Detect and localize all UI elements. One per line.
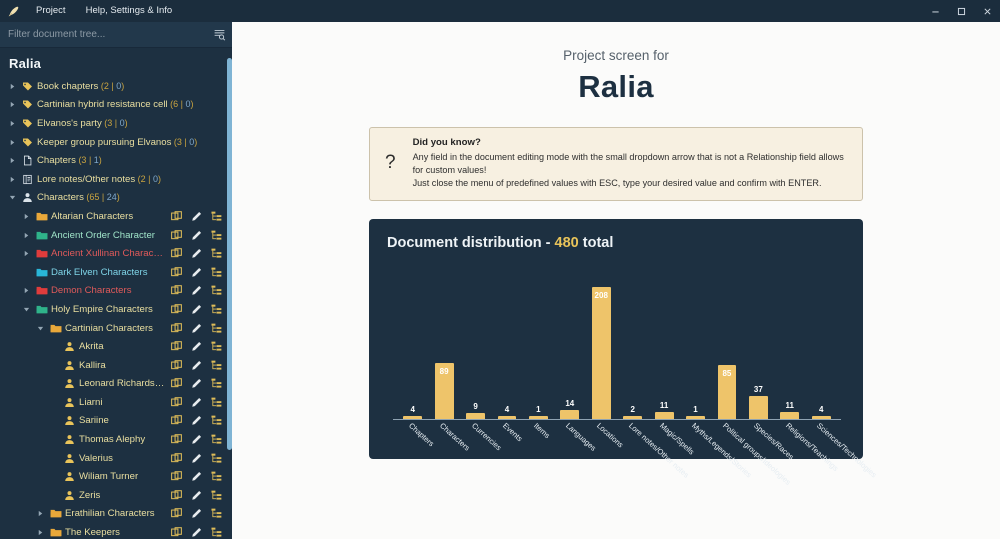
duplicate-action-icon[interactable] — [171, 508, 182, 519]
chart-title-suffix: total — [579, 235, 614, 251]
chevron-right-icon[interactable] — [6, 83, 19, 90]
tree-item[interactable]: Demon Characters — [0, 282, 232, 301]
tree-item-actions — [171, 508, 222, 519]
chevron-right-icon[interactable] — [34, 510, 47, 517]
folder-icon — [33, 304, 50, 315]
document-distribution-chart: Document distribution - 480 total 489941… — [369, 219, 863, 459]
chart-bar[interactable] — [780, 412, 799, 419]
tree-scroll-area[interactable]: Ralia Book chapters (2 | 0)Cartinian hyb… — [0, 48, 232, 539]
chevron-right-icon[interactable] — [6, 120, 19, 127]
person-icon — [61, 490, 78, 501]
duplicate-action-icon[interactable] — [171, 397, 182, 408]
tree-item-actions — [171, 527, 222, 538]
tree-item[interactable]: Kallira — [0, 356, 232, 375]
tree-item[interactable]: Altarian Characters — [0, 207, 232, 226]
chevron-right-icon[interactable] — [20, 213, 33, 220]
tree-action-icon[interactable] — [211, 211, 222, 222]
chart-bar-value: 4 — [505, 405, 509, 414]
tree-item-label: Cartinian Characters — [64, 323, 165, 334]
tree-item-label: Characters (65 | 24) — [36, 192, 222, 203]
tree-item[interactable]: Elvanos's party (3 | 0) — [0, 114, 232, 133]
tree-item-counts: (3 | 1) — [76, 155, 102, 165]
chart-bar-column[interactable]: 11 — [648, 269, 679, 419]
chart-x-tick: Events — [491, 419, 522, 429]
window-controls — [922, 0, 1000, 22]
tree-item-label: Wiliam Turner — [78, 471, 165, 482]
chevron-right-icon[interactable] — [6, 157, 19, 164]
document-tree: Book chapters (2 | 0)Cartinian hybrid re… — [0, 77, 232, 539]
close-button[interactable] — [974, 0, 1000, 22]
tree-item-counts: (6 | 0) — [168, 99, 194, 109]
chart-bar-value: 37 — [754, 385, 763, 394]
chart-x-tick: Myths/Legends/Stories — [680, 419, 711, 429]
person-icon — [61, 397, 78, 408]
edit-action-icon[interactable] — [191, 230, 202, 241]
chevron-down-icon[interactable] — [20, 306, 33, 313]
tree-item-label: Demon Characters — [50, 285, 165, 296]
tree-item-label: Cartinian hybrid resistance cell (6 | 0) — [36, 99, 222, 110]
chart-x-tick: Languages — [554, 419, 585, 429]
chart-bar-value: 4 — [819, 405, 823, 414]
chart-bar-column[interactable]: 14 — [554, 269, 585, 419]
chart-bar-column[interactable]: 1 — [680, 269, 711, 419]
tree-item-actions — [171, 304, 222, 315]
chevron-down-icon[interactable] — [6, 194, 19, 201]
tag-icon — [19, 81, 36, 92]
tree-action-icon[interactable] — [211, 360, 222, 371]
did-you-know-line-1: Any field in the document editing mode w… — [413, 151, 850, 177]
folder-icon — [33, 248, 50, 259]
title-bar: Project Help, Settings & Info — [0, 0, 1000, 22]
chart-plot-area: 4899411420821118537114 ChaptersCharacter… — [387, 269, 845, 419]
edit-action-icon[interactable] — [191, 527, 202, 538]
tree-item-label: Chapters (3 | 1) — [36, 155, 222, 166]
edit-action-icon[interactable] — [191, 323, 202, 334]
tag-icon — [19, 118, 36, 129]
chart-title-prefix: Document distribution - — [387, 235, 555, 251]
tree-item-label: Leonard Richardson — [78, 378, 165, 389]
tree-action-icon[interactable] — [211, 285, 222, 296]
tree-item[interactable]: Zeris — [0, 486, 232, 505]
tree-item-label: Lore notes/Other notes (2 | 0) — [36, 174, 222, 185]
duplicate-action-icon[interactable] — [171, 490, 182, 501]
edit-action-icon[interactable] — [191, 508, 202, 519]
edit-action-icon[interactable] — [191, 285, 202, 296]
edit-action-icon[interactable] — [191, 378, 202, 389]
tree-item[interactable]: Valerius — [0, 449, 232, 468]
tree-item-counts: (2 | 0) — [98, 81, 124, 91]
chart-x-tick: Species/Races — [743, 419, 774, 429]
tree-item-label: Ancient Xullinan Characters — [50, 248, 165, 259]
tree-item[interactable]: Wiliam Turner — [0, 467, 232, 486]
chart-bar-value: 11 — [660, 401, 668, 410]
edit-action-icon[interactable] — [191, 211, 202, 222]
chart-x-tick-label: Myths/Legends/Stories — [689, 421, 752, 479]
chart-x-tick: Religions/Teachings — [774, 419, 805, 429]
duplicate-action-icon[interactable] — [171, 248, 182, 259]
chart-x-tick: Items — [523, 419, 554, 429]
chart-bar-value: 2 — [630, 405, 634, 414]
person-icon — [61, 453, 78, 464]
folder-icon — [33, 267, 50, 278]
tree-action-icon[interactable] — [211, 304, 222, 315]
tree-item[interactable]: Cartinian Characters — [0, 319, 232, 338]
chart-bar-column[interactable]: 89 — [428, 269, 459, 419]
notes-icon — [19, 174, 36, 185]
chart-bar[interactable] — [749, 396, 768, 419]
tree-item[interactable]: Characters (65 | 24) — [0, 189, 232, 208]
chart-bar-value: 11 — [786, 401, 794, 410]
tree-root-title: Ralia — [0, 52, 232, 77]
tree-item-actions — [171, 248, 222, 259]
tree-item[interactable]: Thomas Alephy — [0, 430, 232, 449]
chart-bar-column[interactable]: 85 — [711, 269, 742, 419]
tree-item-actions — [171, 378, 222, 389]
maximize-button[interactable] — [948, 0, 974, 22]
chart-x-tick: Lore notes/Other notes — [617, 419, 648, 429]
folder-icon — [47, 508, 64, 519]
chevron-right-icon[interactable] — [6, 101, 19, 108]
chart-bar[interactable]: 85 — [718, 365, 737, 419]
folder-icon — [33, 285, 50, 296]
tree-item-label: The Keepers — [64, 527, 165, 538]
app-window: Project Help, Settings & Info — [0, 0, 1000, 539]
edit-action-icon[interactable] — [191, 360, 202, 371]
tree-item-label: Zeris — [78, 490, 165, 501]
edit-action-icon[interactable] — [191, 434, 202, 445]
duplicate-action-icon[interactable] — [171, 378, 182, 389]
tree-item-actions — [171, 267, 222, 278]
did-you-know-line-2: Just close the menu of predefined values… — [413, 177, 850, 190]
tree-item-actions — [171, 230, 222, 241]
person-icon — [61, 415, 78, 426]
question-mark-icon: ? — [380, 152, 401, 174]
tree-action-icon[interactable] — [211, 378, 222, 389]
chart-x-tick-label: Events — [501, 421, 524, 443]
tree-item[interactable]: Erathilian Characters — [0, 505, 232, 524]
duplicate-action-icon[interactable] — [171, 285, 182, 296]
chart-bars: 4899411420821118537114 — [397, 269, 837, 419]
chart-x-tick: Political groups/Ideologies — [711, 419, 742, 429]
tag-icon — [19, 137, 36, 148]
filter-search-icon[interactable] — [206, 28, 232, 41]
tree-action-icon[interactable] — [211, 267, 222, 278]
tree-action-icon[interactable] — [211, 434, 222, 445]
chart-x-tick-label: Lore notes/Other notes — [627, 421, 691, 480]
tree-item-label: Elvanos's party (3 | 0) — [36, 118, 222, 129]
tree-item-counts: (3 | 0) — [171, 137, 197, 147]
folder-icon — [47, 527, 64, 538]
tree-item-actions — [171, 397, 222, 408]
tree-action-icon[interactable] — [211, 341, 222, 352]
page-title: Ralia — [232, 69, 1000, 105]
person-icon — [61, 360, 78, 371]
tree-item-actions — [171, 211, 222, 222]
document-tree-sidebar: Ralia Book chapters (2 | 0)Cartinian hyb… — [0, 22, 232, 539]
tree-item[interactable]: Holy Empire Characters — [0, 300, 232, 319]
chart-x-tick-labels: ChaptersCharactersCurrenciesEventsItemsL… — [397, 419, 837, 429]
duplicate-action-icon[interactable] — [171, 211, 182, 222]
tree-item-label: Kallira — [78, 360, 165, 371]
chart-bar-column[interactable]: 4 — [397, 269, 428, 419]
tree-item-label: Liarni — [78, 397, 165, 408]
chart-bar-value: 208 — [592, 291, 611, 300]
tree-action-icon[interactable] — [211, 397, 222, 408]
edit-action-icon[interactable] — [191, 471, 202, 482]
edit-action-icon[interactable] — [191, 248, 202, 259]
chart-bar[interactable] — [560, 410, 579, 419]
chevron-right-icon[interactable] — [6, 176, 19, 183]
edit-action-icon[interactable] — [191, 415, 202, 426]
person-icon — [61, 341, 78, 352]
document-icon — [19, 155, 36, 166]
chevron-right-icon[interactable] — [34, 529, 47, 536]
tree-item-label: Akrita — [78, 341, 165, 352]
duplicate-action-icon[interactable] — [171, 230, 182, 241]
chart-bar-column[interactable]: 2 — [617, 269, 648, 419]
tree-item-counts: (2 | 0) — [135, 174, 161, 184]
chart-bar-value: 89 — [435, 367, 454, 376]
chart-title: Document distribution - 480 total — [387, 235, 845, 251]
chart-bar-column[interactable]: 4 — [805, 269, 836, 419]
folder-icon — [33, 230, 50, 241]
tree-item-actions — [171, 434, 222, 445]
person-icon — [61, 471, 78, 482]
filter-row — [0, 22, 232, 48]
did-you-know-panel: ? Did you know? Any field in the documen… — [369, 127, 863, 201]
tree-item-actions — [171, 341, 222, 352]
tree-item-label: Sariine — [78, 415, 165, 426]
tree-item-actions — [171, 490, 222, 501]
tree-item-label: Ancient Order Character — [50, 230, 165, 241]
tree-action-icon[interactable] — [211, 230, 222, 241]
menu-project[interactable]: Project — [26, 0, 76, 22]
chart-bar-column[interactable]: 11 — [774, 269, 805, 419]
did-you-know-title: Did you know? — [413, 137, 850, 148]
tree-item-actions — [171, 471, 222, 482]
tree-action-icon[interactable] — [211, 527, 222, 538]
edit-action-icon[interactable] — [191, 453, 202, 464]
window-body: Ralia Book chapters (2 | 0)Cartinian hyb… — [0, 22, 1000, 539]
tree-item-label: Holy Empire Characters — [50, 304, 165, 315]
chart-x-tick: Sciences/Technologies — [805, 419, 836, 429]
chart-x-tick: Chapters — [397, 419, 428, 429]
tree-item-counts: (3 | 0) — [102, 118, 128, 128]
edit-action-icon[interactable] — [191, 397, 202, 408]
chart-bar[interactable]: 208 — [592, 287, 611, 419]
tree-item-label: Altarian Characters — [50, 211, 165, 222]
tree-item[interactable]: Akrita — [0, 337, 232, 356]
minimize-button[interactable] — [922, 0, 948, 22]
chart-x-tick-label: Sciences/Technologies — [815, 421, 878, 479]
person-icon — [61, 378, 78, 389]
tree-item[interactable]: Book chapters (2 | 0) — [0, 77, 232, 96]
duplicate-action-icon[interactable] — [171, 527, 182, 538]
chart-x-tick: Magic/Spells — [648, 419, 679, 429]
tree-item-actions — [171, 415, 222, 426]
tree-item-label: Thomas Alephy — [78, 434, 165, 445]
tree-item-actions — [171, 323, 222, 334]
tree-action-icon[interactable] — [211, 248, 222, 259]
person-icon — [61, 434, 78, 445]
tree-action-icon[interactable] — [211, 490, 222, 501]
tree-item[interactable]: Keeper group pursuing Elvanos (3 | 0) — [0, 133, 232, 152]
tree-item-label: Erathilian Characters — [64, 508, 165, 519]
folder-icon — [47, 323, 64, 334]
tree-item-counts: (65 | 24) — [84, 192, 120, 202]
tree-item[interactable]: Lore notes/Other notes (2 | 0) — [0, 170, 232, 189]
chart-bar-value: 1 — [693, 405, 697, 414]
duplicate-action-icon[interactable] — [171, 360, 182, 371]
edit-action-icon[interactable] — [191, 341, 202, 352]
tree-action-icon[interactable] — [211, 415, 222, 426]
tree-item[interactable]: Sariine — [0, 412, 232, 431]
chart-bar[interactable] — [655, 412, 674, 419]
chart-bar-column[interactable]: 37 — [743, 269, 774, 419]
main-content: Project screen for Ralia ? Did you know?… — [232, 22, 1000, 539]
chart-bar-column[interactable]: 208 — [586, 269, 617, 419]
duplicate-action-icon[interactable] — [171, 341, 182, 352]
tree-item-actions — [171, 453, 222, 464]
chart-bar-value: 1 — [536, 405, 540, 414]
chart-x-tick-label: Items — [532, 421, 552, 440]
chart-x-tick: Locations — [586, 419, 617, 429]
duplicate-action-icon[interactable] — [171, 267, 182, 278]
tree-action-icon[interactable] — [211, 453, 222, 464]
chevron-right-icon[interactable] — [20, 232, 33, 239]
duplicate-action-icon[interactable] — [171, 453, 182, 464]
person-icon — [19, 192, 36, 203]
tree-item[interactable]: Liarni — [0, 393, 232, 412]
chevron-right-icon[interactable] — [20, 287, 33, 294]
duplicate-action-icon[interactable] — [171, 415, 182, 426]
chart-bar-value: 9 — [473, 402, 477, 411]
app-logo-icon — [0, 5, 26, 18]
tree-item[interactable]: Dark Elven Characters — [0, 263, 232, 282]
tree-action-icon[interactable] — [211, 323, 222, 334]
duplicate-action-icon[interactable] — [171, 304, 182, 315]
chart-bar-value: 85 — [718, 369, 737, 378]
tree-item-actions — [171, 360, 222, 371]
chart-title-total: 480 — [555, 235, 579, 251]
chevron-right-icon[interactable] — [6, 139, 19, 146]
chart-bar-column[interactable]: 1 — [523, 269, 554, 419]
tag-icon — [19, 99, 36, 110]
duplicate-action-icon[interactable] — [171, 471, 182, 482]
tree-item[interactable]: The Keepers — [0, 523, 232, 539]
chart-bar-value: 4 — [410, 405, 414, 414]
edit-action-icon[interactable] — [191, 490, 202, 501]
tree-item[interactable]: Cartinian hybrid resistance cell (6 | 0) — [0, 96, 232, 115]
tree-item-actions — [171, 285, 222, 296]
tree-item-label: Valerius — [78, 453, 165, 464]
tree-item[interactable]: Ancient Order Character — [0, 226, 232, 245]
tree-item[interactable]: Ancient Xullinan Characters — [0, 244, 232, 263]
chart-bar-column[interactable]: 9 — [460, 269, 491, 419]
tree-item[interactable]: Leonard Richardson — [0, 375, 232, 394]
filter-document-tree-input[interactable] — [0, 29, 206, 40]
page-subtitle: Project screen for — [232, 48, 1000, 63]
chart-x-tick: Characters — [428, 419, 459, 429]
tree-item-label: Book chapters (2 | 0) — [36, 81, 222, 92]
chart-bar-value: 14 — [565, 399, 574, 408]
tree-item-label: Dark Elven Characters — [50, 267, 165, 278]
chart-bar-column[interactable]: 4 — [491, 269, 522, 419]
duplicate-action-icon[interactable] — [171, 323, 182, 334]
tree-item[interactable]: Chapters (3 | 1) — [0, 151, 232, 170]
tree-item-label: Keeper group pursuing Elvanos (3 | 0) — [36, 137, 222, 148]
chevron-right-icon[interactable] — [20, 250, 33, 257]
tree-action-icon[interactable] — [211, 471, 222, 482]
edit-action-icon[interactable] — [191, 267, 202, 278]
chevron-down-icon[interactable] — [34, 325, 47, 332]
edit-action-icon[interactable] — [191, 304, 202, 315]
chart-bar[interactable]: 89 — [435, 363, 454, 419]
chart-x-tick: Currencies — [460, 419, 491, 429]
tree-action-icon[interactable] — [211, 508, 222, 519]
duplicate-action-icon[interactable] — [171, 434, 182, 445]
folder-icon — [33, 211, 50, 222]
menu-help-settings-info[interactable]: Help, Settings & Info — [76, 0, 183, 22]
